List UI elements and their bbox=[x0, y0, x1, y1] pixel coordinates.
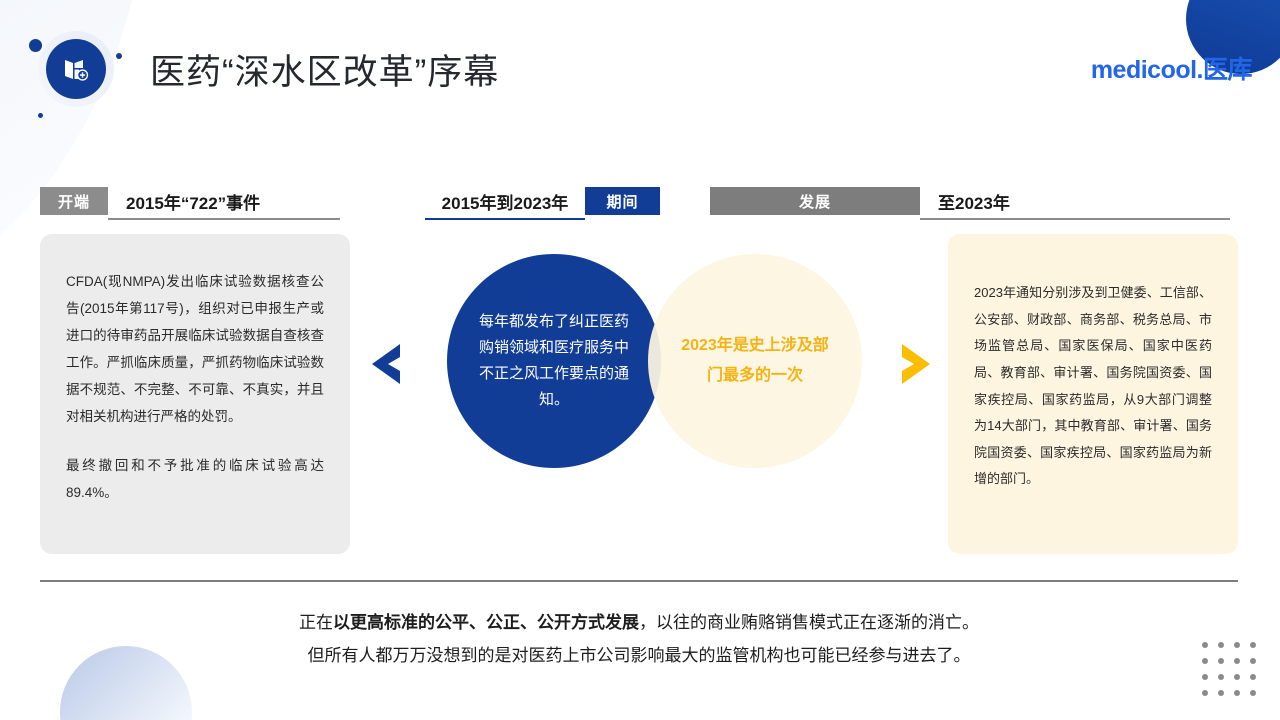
footer-summary: 正在以更高标准的公平、公正、公开方式发展，以往的商业贿赂销售模式正在逐渐的消亡。… bbox=[40, 606, 1238, 672]
grid-dot bbox=[1234, 658, 1240, 664]
panel-development-paragraph-1: 2023年通知分别涉及到卫健委、工信部、公安部、财政部、商务部、税务总局、市场监… bbox=[974, 280, 1212, 493]
grid-dot bbox=[1202, 658, 1208, 664]
grid-dot bbox=[1202, 642, 1208, 648]
footer-divider bbox=[40, 580, 1238, 582]
circle-period-blue-text: 每年都发布了纠正医药购销领域和医疗服务中不正之风工作要点的通知。 bbox=[479, 309, 629, 414]
panel-start: CFDA(现NMPA)发出临床试验数据核查公告(2015年第117号)，组织对已… bbox=[40, 234, 350, 554]
brand-logo: medicool.医库 bbox=[1091, 50, 1252, 86]
panel-start-paragraph-2: 最终撤回和不予批准的临床试验高达89.4%。 bbox=[66, 452, 324, 506]
logo-dot-large bbox=[29, 39, 42, 52]
section-rule-development bbox=[920, 218, 1230, 220]
circle-period-cream: 2023年是史上涉及部门最多的一次 bbox=[648, 254, 862, 468]
circle-period-cream-text: 2023年是史上涉及部门最多的一次 bbox=[676, 331, 834, 390]
grid-dot bbox=[1218, 674, 1224, 680]
logo-dot-medium bbox=[116, 53, 122, 59]
grid-dot bbox=[1250, 658, 1256, 664]
footer-line-1: 正在以更高标准的公平、公正、公开方式发展，以往的商业贿赂销售模式正在逐渐的消亡。 bbox=[40, 606, 1238, 639]
panel-development: 2023年通知分别涉及到卫健委、工信部、公安部、财政部、商务部、税务总局、市场监… bbox=[948, 234, 1238, 554]
grid-dot bbox=[1234, 674, 1240, 680]
chevron-left-icon bbox=[368, 342, 414, 391]
book-plus-icon bbox=[46, 39, 106, 99]
section-tag-development: 发展 bbox=[710, 187, 920, 215]
circle-period-blue: 每年都发布了纠正医药购销领域和医疗服务中不正之风工作要点的通知。 bbox=[447, 254, 661, 468]
page-title: 医药“深水区改革”序幕 bbox=[150, 44, 499, 95]
section-caption-start: 2015年“722”事件 bbox=[108, 187, 260, 215]
slide-canvas: 医药“深水区改革”序幕 medicool.医库 开端 2015年“722”事件 … bbox=[0, 0, 1280, 720]
section-tag-start: 开端 bbox=[40, 187, 108, 215]
grid-dot bbox=[1202, 674, 1208, 680]
grid-dot bbox=[1250, 642, 1256, 648]
section-header-development: 发展 至2023年 bbox=[710, 187, 1230, 215]
section-header-period: 2015年到2023年 期间 bbox=[425, 187, 660, 215]
dot-grid-decoration bbox=[1202, 642, 1256, 696]
grid-dot bbox=[1218, 642, 1224, 648]
section-caption-period: 2015年到2023年 bbox=[425, 187, 585, 215]
logo-dot-small bbox=[38, 113, 43, 118]
grid-dot bbox=[1218, 658, 1224, 664]
grid-dot bbox=[1250, 674, 1256, 680]
grid-dot bbox=[1250, 690, 1256, 696]
grid-dot bbox=[1234, 642, 1240, 648]
grid-dot bbox=[1202, 690, 1208, 696]
section-rule-start bbox=[108, 218, 340, 220]
section-header-start: 开端 2015年“722”事件 bbox=[40, 187, 340, 215]
footer-line-1-suffix: ，以往的商业贿赂销售模式正在逐渐的消亡。 bbox=[639, 613, 979, 632]
footer-line-1-emphasis: 以更高标准的公平、公正、公开方式发展 bbox=[333, 613, 639, 632]
section-tag-period: 期间 bbox=[585, 187, 660, 215]
section-rule-period bbox=[425, 218, 585, 220]
section-caption-development: 至2023年 bbox=[920, 187, 1010, 215]
footer-line-2: 但所有人都万万没想到的是对医药上市公司影响最大的监管机构也可能已经参与进去了。 bbox=[40, 639, 1238, 672]
chevron-right-icon bbox=[888, 342, 934, 391]
footer-line-1-prefix: 正在 bbox=[299, 613, 333, 632]
grid-dot bbox=[1234, 690, 1240, 696]
grid-dot bbox=[1218, 690, 1224, 696]
panel-start-paragraph-1: CFDA(现NMPA)发出临床试验数据核查公告(2015年第117号)，组织对已… bbox=[66, 268, 324, 430]
